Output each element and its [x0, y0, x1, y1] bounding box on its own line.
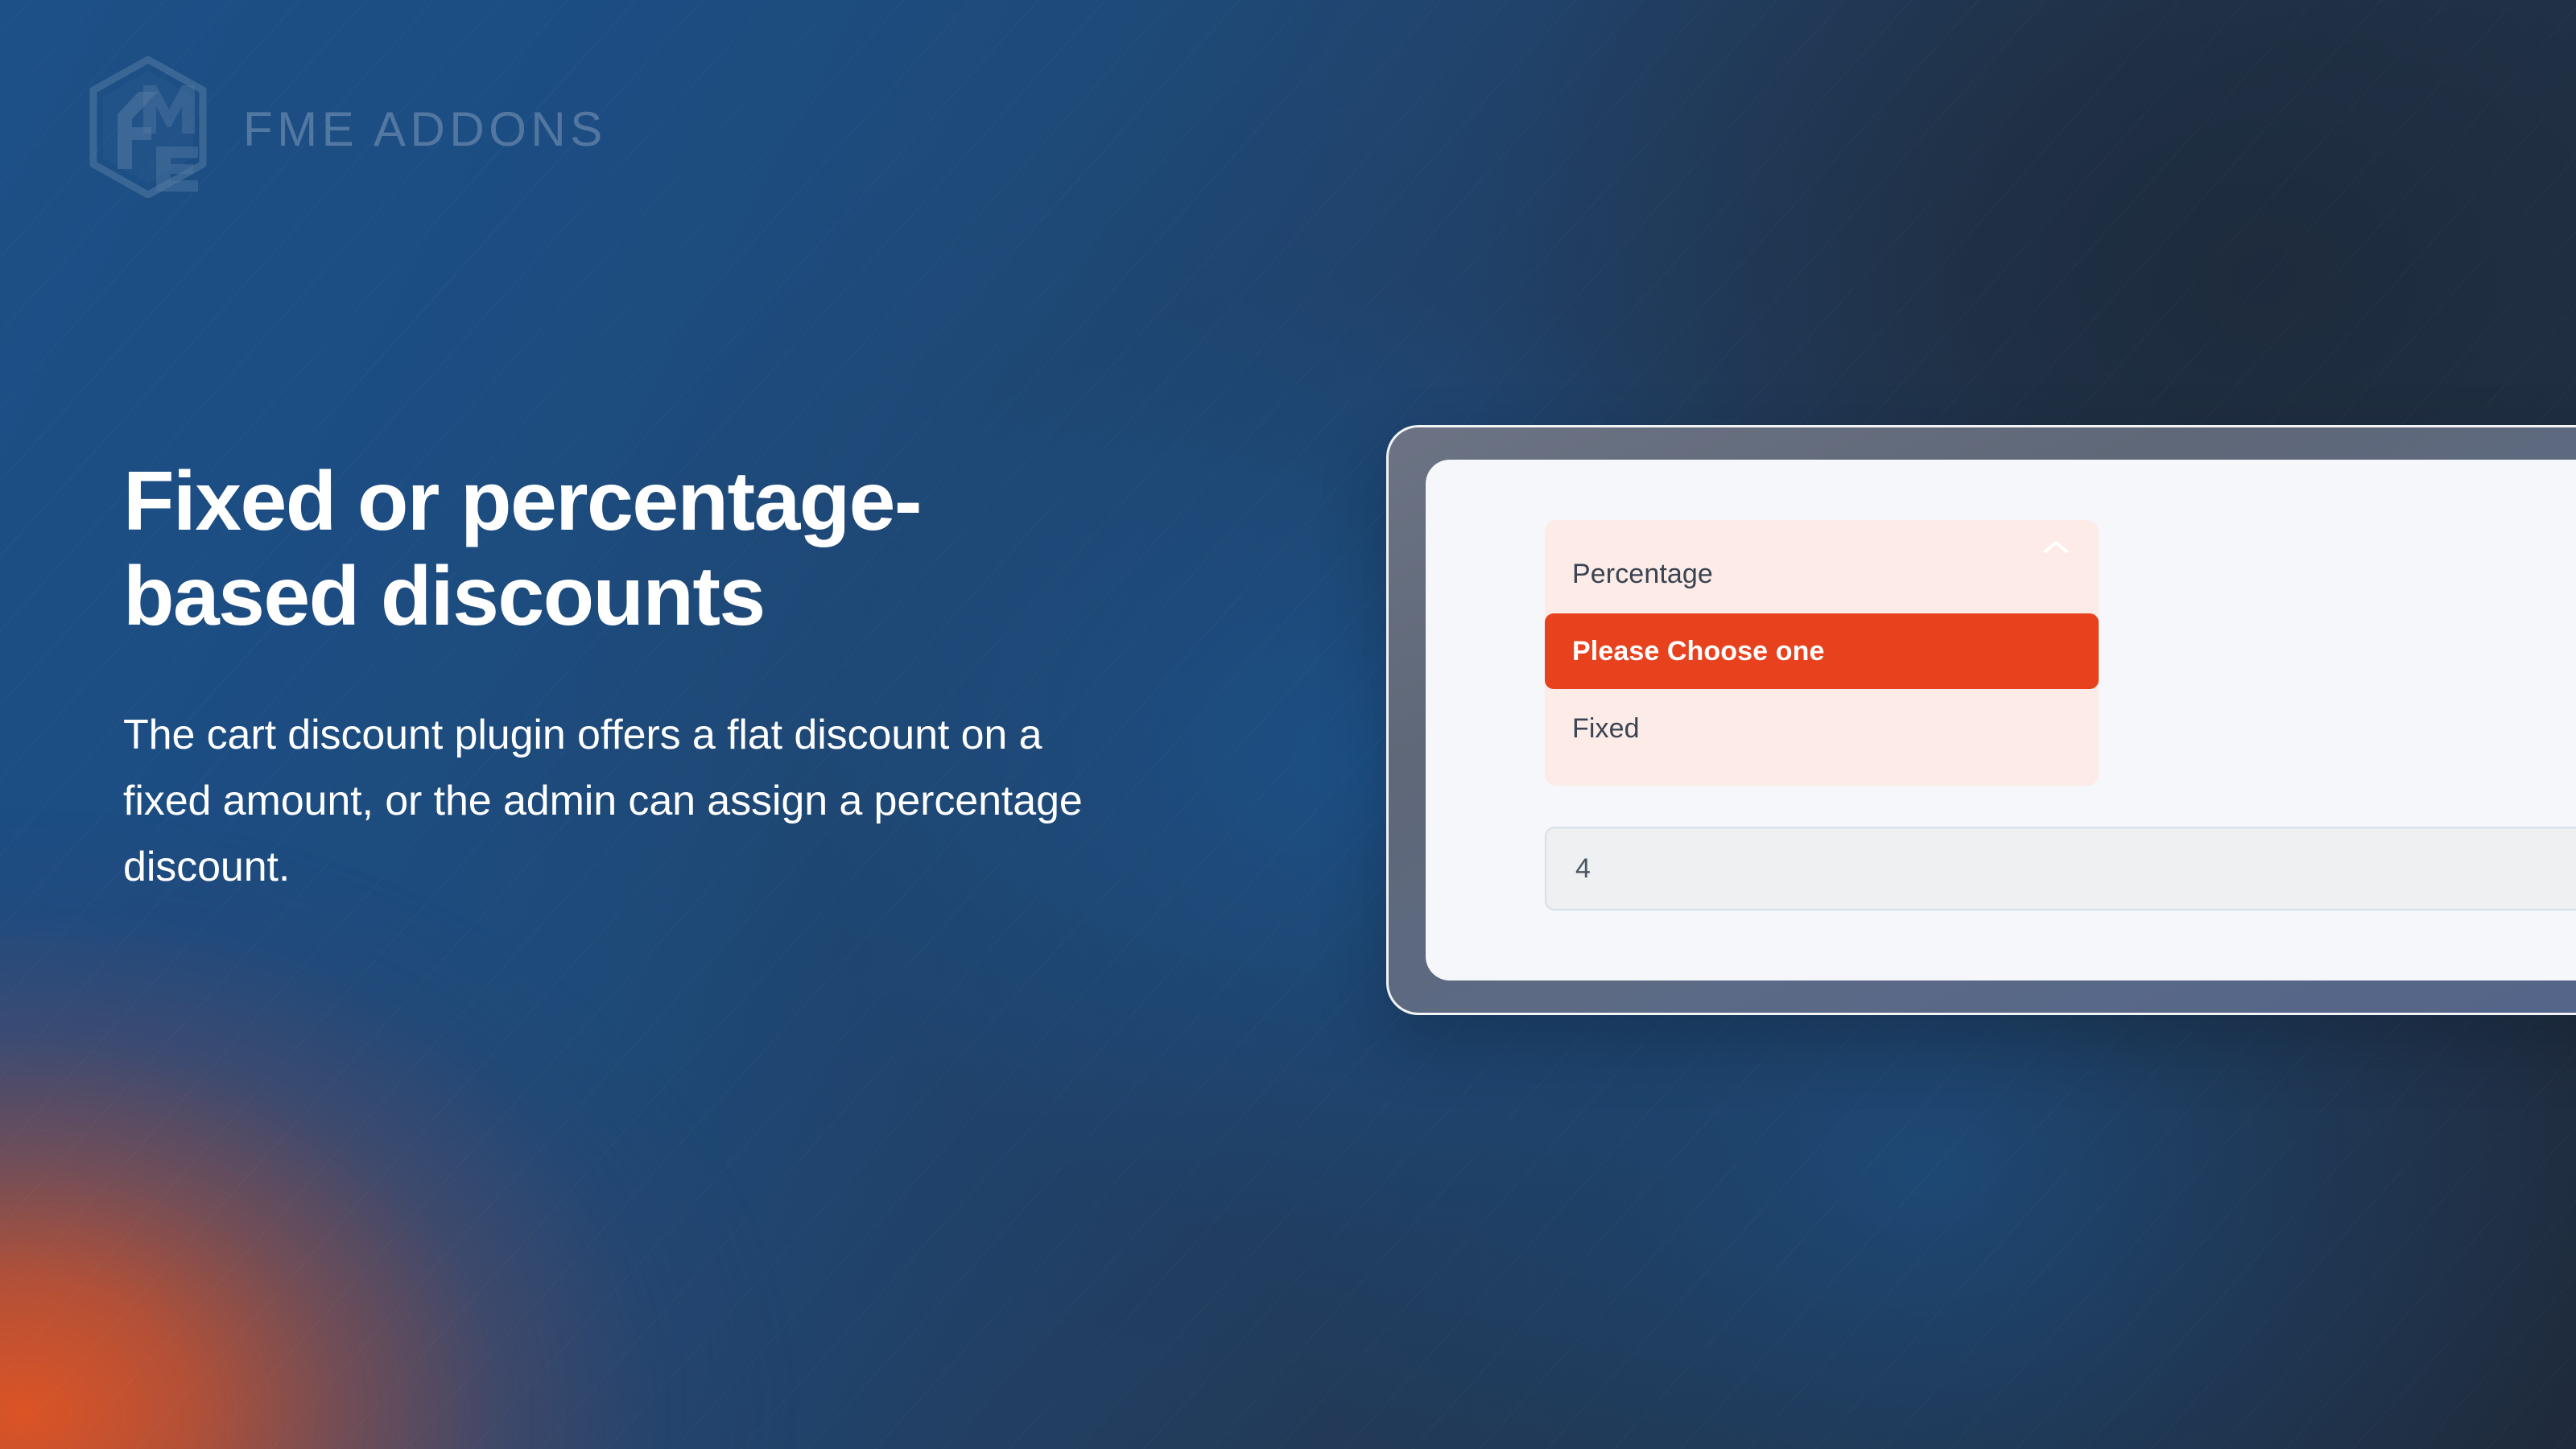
discount-amount-value[interactable]: 4 [1575, 853, 1591, 885]
hero-description: The cart discount plugin offers a flat d… [123, 702, 1089, 900]
page-title: Fixed or percentage-based discounts [123, 455, 1073, 644]
hero-copy-column: Fixed or percentage-based discounts The … [123, 455, 1162, 901]
dropdown-option-fixed[interactable]: Fixed [1545, 696, 2099, 762]
brand-logo: FME ADDONS [87, 56, 607, 198]
dropdown-option-please-choose-one[interactable]: Please Choose one [1545, 613, 2099, 689]
dropdown-option-percentage[interactable]: Percentage [1545, 541, 2099, 607]
discount-type-dropdown[interactable]: Percentage Please Choose one Fixed [1545, 520, 2099, 786]
device-screen: Percentage Please Choose one Fixed 4 [1426, 460, 2576, 980]
device-frame: Percentage Please Choose one Fixed 4 [1386, 425, 2576, 1015]
fme-hex-monogram-icon [87, 56, 209, 198]
brand-wordmark: FME ADDONS [243, 101, 607, 154]
discount-amount-field[interactable]: 4 [1545, 827, 2576, 910]
